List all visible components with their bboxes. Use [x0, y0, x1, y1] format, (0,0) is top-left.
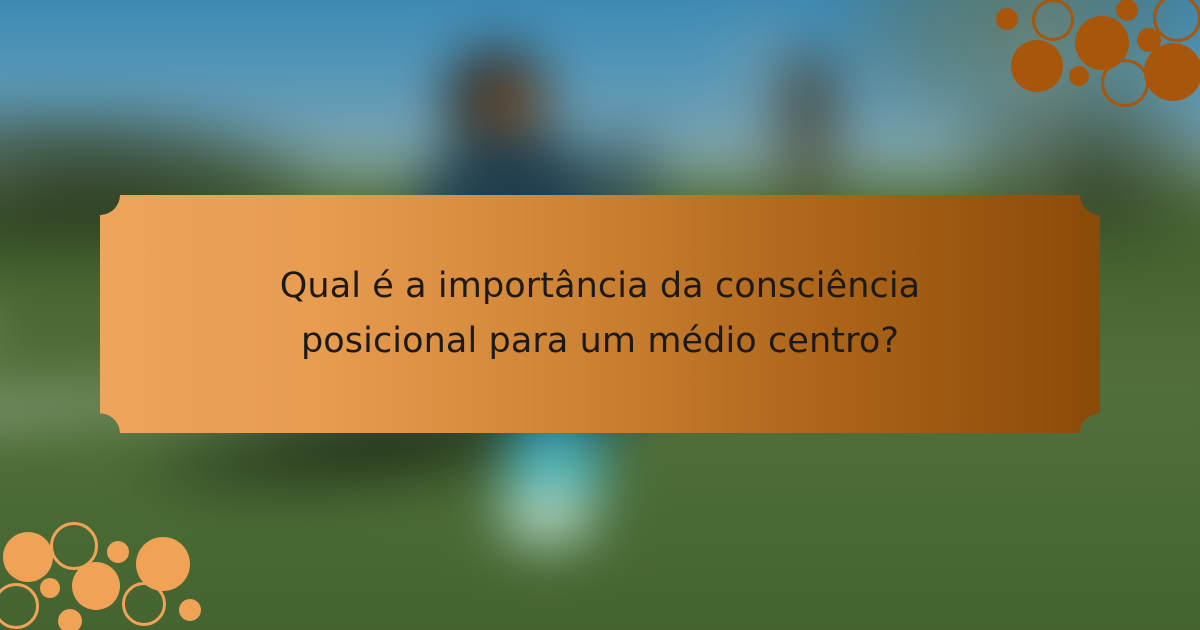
quote-line-1: Qual é a importância da consciência: [170, 259, 1030, 314]
pitch-line-upper: [0, 170, 200, 186]
deco-circle: [107, 541, 129, 563]
deco-circle: [179, 599, 201, 621]
deco-circle: [72, 562, 120, 610]
quote-text: Qual é a importância da consciênciaposic…: [170, 259, 1030, 369]
deco-circle: [1101, 59, 1149, 107]
player-face: [488, 80, 536, 138]
quote-line-2: posicional para um médio centro?: [170, 314, 1030, 369]
deco-circle: [3, 532, 53, 582]
player-boot: [495, 480, 600, 550]
deco-circle: [122, 582, 166, 626]
deco-circle: [1011, 40, 1063, 92]
deco-circle: [1116, 0, 1138, 21]
deco-circle: [1069, 66, 1089, 86]
deco-circle: [1144, 43, 1200, 101]
deco-circle: [996, 8, 1018, 30]
deco-circle: [58, 609, 82, 630]
deco-circle: [40, 578, 60, 598]
quote-card: Qual é a importância da consciênciaposic…: [100, 195, 1100, 433]
deco-circle: [1032, 0, 1074, 41]
social-quote-card-canvas: Qual é a importância da consciênciaposic…: [0, 0, 1200, 630]
